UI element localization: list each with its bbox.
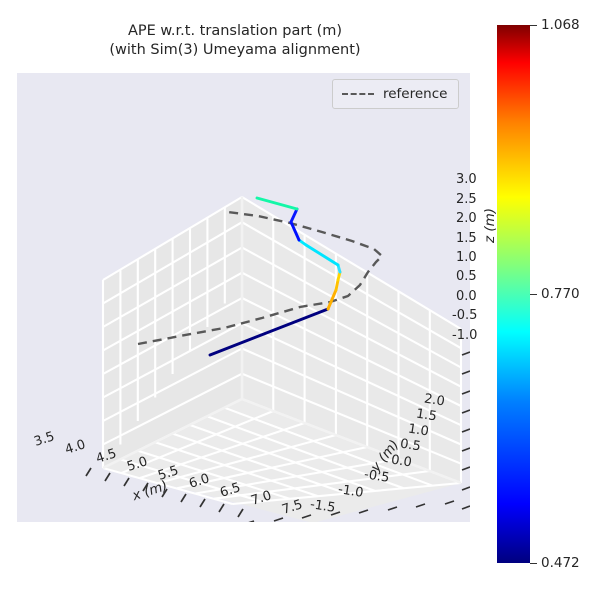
traj-seg-green bbox=[257, 198, 297, 209]
colorbar[interactable]: 1.068 0.770 0.472 bbox=[497, 25, 530, 563]
page-title: APE w.r.t. translation part (m) (with Si… bbox=[0, 22, 470, 60]
traj-seg-orange-2 bbox=[336, 280, 338, 290]
y-tick-label: 0.5 bbox=[399, 436, 422, 454]
y-tick-label: 1.0 bbox=[407, 421, 430, 439]
y-tick-label: 1.5 bbox=[415, 406, 438, 424]
colorbar-tick-mark bbox=[530, 294, 537, 295]
traj-seg-blue-2 bbox=[291, 209, 297, 222]
colorbar-tick-mark bbox=[530, 563, 537, 564]
z-axis-label: z (m) bbox=[482, 208, 498, 243]
figure-canvas: APE w.r.t. translation part (m) (with Si… bbox=[0, 0, 600, 600]
colorbar-tick-label: 1.068 bbox=[541, 17, 580, 33]
legend[interactable]: reference bbox=[332, 79, 459, 109]
colorbar-tick-mark bbox=[530, 25, 537, 26]
colorbar-tick-label: 0.472 bbox=[541, 555, 580, 571]
y-tick-label: 2.0 bbox=[423, 391, 446, 409]
colorbar-gradient bbox=[497, 25, 530, 563]
z-axis-label-clip: z (m) bbox=[470, 73, 500, 522]
z-axis-ticks bbox=[462, 352, 470, 509]
colorbar-tick-label: 0.770 bbox=[541, 286, 580, 302]
legend-item-label: reference bbox=[383, 86, 447, 102]
legend-reference-line-icon bbox=[342, 93, 374, 95]
